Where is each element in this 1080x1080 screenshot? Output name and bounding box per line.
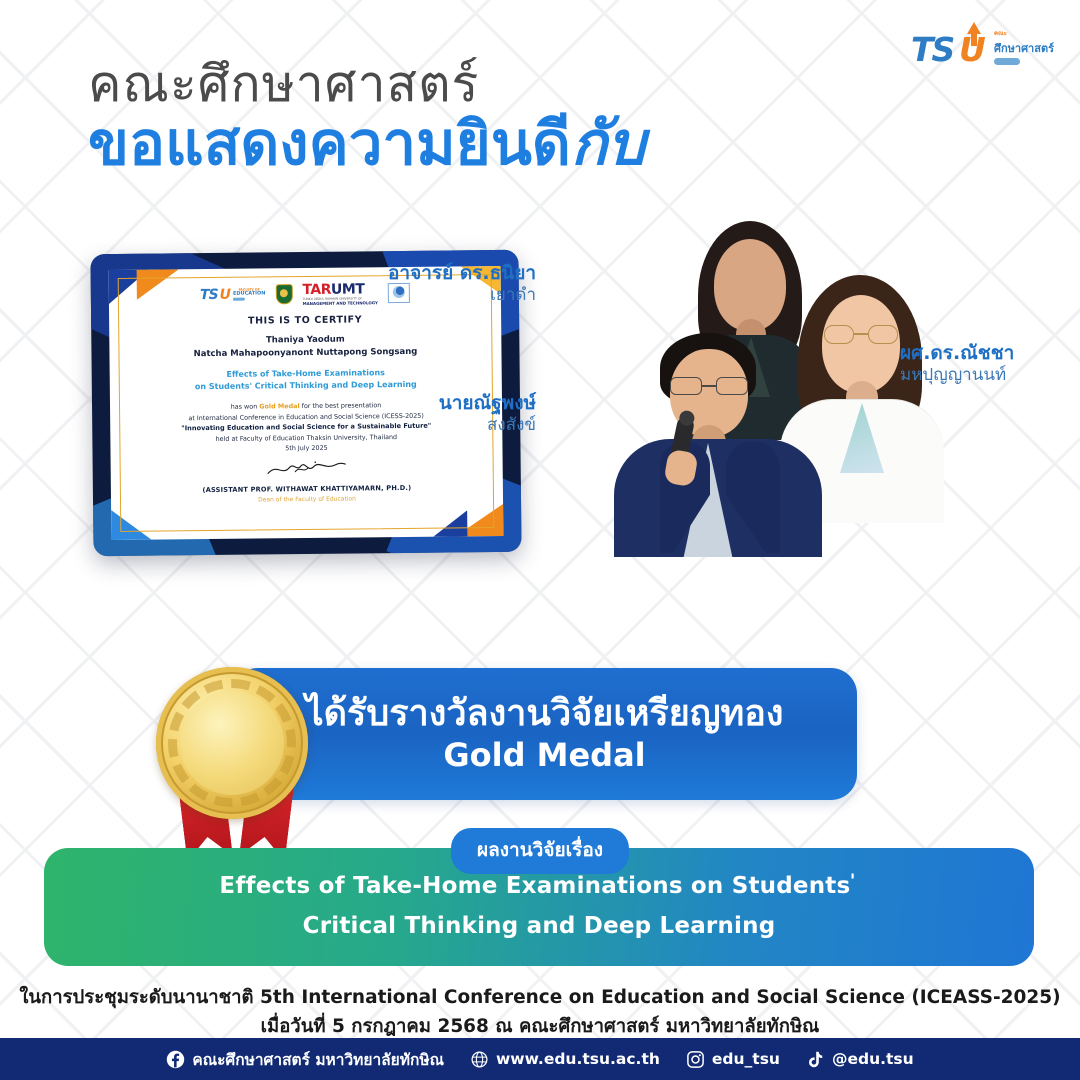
facebook-icon[interactable]	[166, 1050, 185, 1069]
award-banner: ได้รับรางวัลงานวิจัยเหรียญทอง Gold Medal	[232, 668, 857, 800]
portrait-label-title: ผศ.ดร.ณัชชา	[900, 342, 1014, 365]
footer-tiktok[interactable]: @edu.tsu	[806, 1050, 914, 1069]
research-pill-badge: ผลงานวิจัยเรื่อง	[451, 828, 629, 874]
heading-line-2-emphasis: กับ	[571, 109, 645, 179]
conference-line-1: ในการประชุมระดับนานาชาติ 5th Internation…	[0, 984, 1080, 1013]
certificate-research-title: Effects of Take-Home Examinations on Stu…	[132, 366, 480, 394]
glasses-icon	[824, 325, 898, 344]
footer-tiktok-label: @edu.tsu	[832, 1050, 914, 1068]
certificate-signer-name: (ASSISTANT PROF. WITHAWAT KHATTIYAMARN, …	[133, 484, 481, 496]
cert-logo-ts-text: TS	[200, 287, 218, 303]
award-thai-line: ได้รับรางวัลงานวิจัยเหรียญทอง	[306, 693, 784, 735]
heading-line-1: คณะศึกษาศาสตร์	[88, 58, 645, 111]
heading-line-2-plain: ขอแสดงความยินดี	[88, 109, 571, 179]
certificate-body-gold-medal: Gold Medal	[259, 402, 299, 410]
certificate-body-post: for the best presentation	[300, 401, 382, 410]
portrait-label-nuttapong: นายณัฐพงษ์ สงสังข์	[386, 392, 536, 436]
gold-medal-icon	[150, 663, 320, 858]
tarumt-wordmark: TARUMT	[302, 282, 364, 297]
logo-ts-text: TS	[911, 30, 953, 69]
certificate-body-pre: has won	[231, 403, 260, 411]
tsu-logo: TS U คณะ ศึกษาศาสตร์	[911, 24, 1054, 68]
footer-instagram[interactable]: edu_tsu	[686, 1050, 780, 1069]
footer-instagram-label: edu_tsu	[712, 1050, 780, 1068]
portrait-nuttapong	[614, 333, 824, 555]
tarumt-umt-text: UMT	[331, 281, 365, 297]
portrait-label-surname: มหปุญญานนท์	[900, 365, 1014, 386]
signature-icon	[264, 457, 350, 480]
portrait-label-title: นายณัฐพงษ์	[386, 392, 536, 415]
footer-facebook-label: คณะศึกษาศาสตร์ มหาวิทยาลัยทักษิณ	[192, 1047, 444, 1072]
footer-website-label: www.edu.tsu.ac.th	[496, 1050, 660, 1068]
portrait-label-title: อาจารย์ ดร.ธนิยา	[386, 262, 536, 285]
logo-faculty-small: คณะ	[994, 28, 1054, 38]
heading-line-2: ขอแสดงความยินดีกับ	[88, 113, 645, 176]
portrait-label-surname: เยาดำ	[386, 285, 536, 306]
certificate-certify-line: THIS IS TO CERTIFY	[131, 313, 479, 328]
portrait-face	[714, 239, 786, 331]
footer-website[interactable]: www.edu.tsu.ac.th	[470, 1050, 660, 1069]
portrait-label-natcha: ผศ.ดร.ณัชชา มหปุญญานนท์	[900, 342, 1014, 386]
conference-info: ในการประชุมระดับนานาชาติ 5th Internation…	[0, 984, 1080, 1041]
tarumt-logo: TARUMT TUNKU ABDUL RAHMAN UNIVERSITY OF …	[302, 282, 378, 306]
logo-pill-shape	[994, 58, 1020, 65]
cert-logo-faculty-main: EDUCATION	[233, 292, 266, 297]
instagram-icon[interactable]	[686, 1050, 705, 1069]
portrait-face	[822, 295, 900, 393]
certificate-name-line-2: Natcha Mahapoonyanont Nuttapong Songsang	[131, 345, 479, 361]
portrait-label-thaniya: อาจารย์ ดร.ธนิยา เยาดำ	[386, 262, 536, 306]
tarumt-subtitle-2: MANAGEMENT AND TECHNOLOGY	[303, 301, 378, 306]
tarumt-crest-icon	[275, 284, 292, 304]
medal-inner-face	[180, 691, 284, 795]
logo-faculty-text: คณะ ศึกษาศาสตร์	[994, 28, 1054, 65]
cert-logo-faculty: FACULTY OF EDUCATION	[233, 288, 266, 301]
award-english-line: Gold Medal	[443, 735, 645, 775]
glasses-icon	[670, 377, 748, 395]
cert-logo-pill-shape	[233, 298, 245, 301]
portrait-label-surname: สงสังข์	[386, 415, 536, 436]
tiktok-icon[interactable]	[806, 1050, 825, 1069]
page-title: คณะศึกษาศาสตร์ ขอแสดงความยินดีกับ	[88, 58, 645, 176]
certificate-tsu-logo: TS U FACULTY OF EDUCATION	[200, 286, 266, 303]
tarumt-tar-text: TAR	[302, 281, 331, 297]
logo-u-text: U	[959, 30, 985, 69]
globe-icon[interactable]	[470, 1050, 489, 1069]
footer-bar: คณะศึกษาศาสตร์ มหาวิทยาลัยทักษิณ www.edu…	[0, 1038, 1080, 1080]
tsu-logo-mark: TS U	[911, 24, 989, 68]
footer-facebook[interactable]: คณะศึกษาศาสตร์ มหาวิทยาลัยทักษิณ	[166, 1047, 444, 1072]
cert-logo-u-text: U	[220, 287, 232, 303]
research-title-line-2: Critical Thinking and Deep Learning	[303, 907, 776, 947]
logo-faculty-main: ศึกษาศาสตร์	[994, 39, 1054, 57]
certificate-body-date: 5th July 2025	[132, 441, 480, 455]
